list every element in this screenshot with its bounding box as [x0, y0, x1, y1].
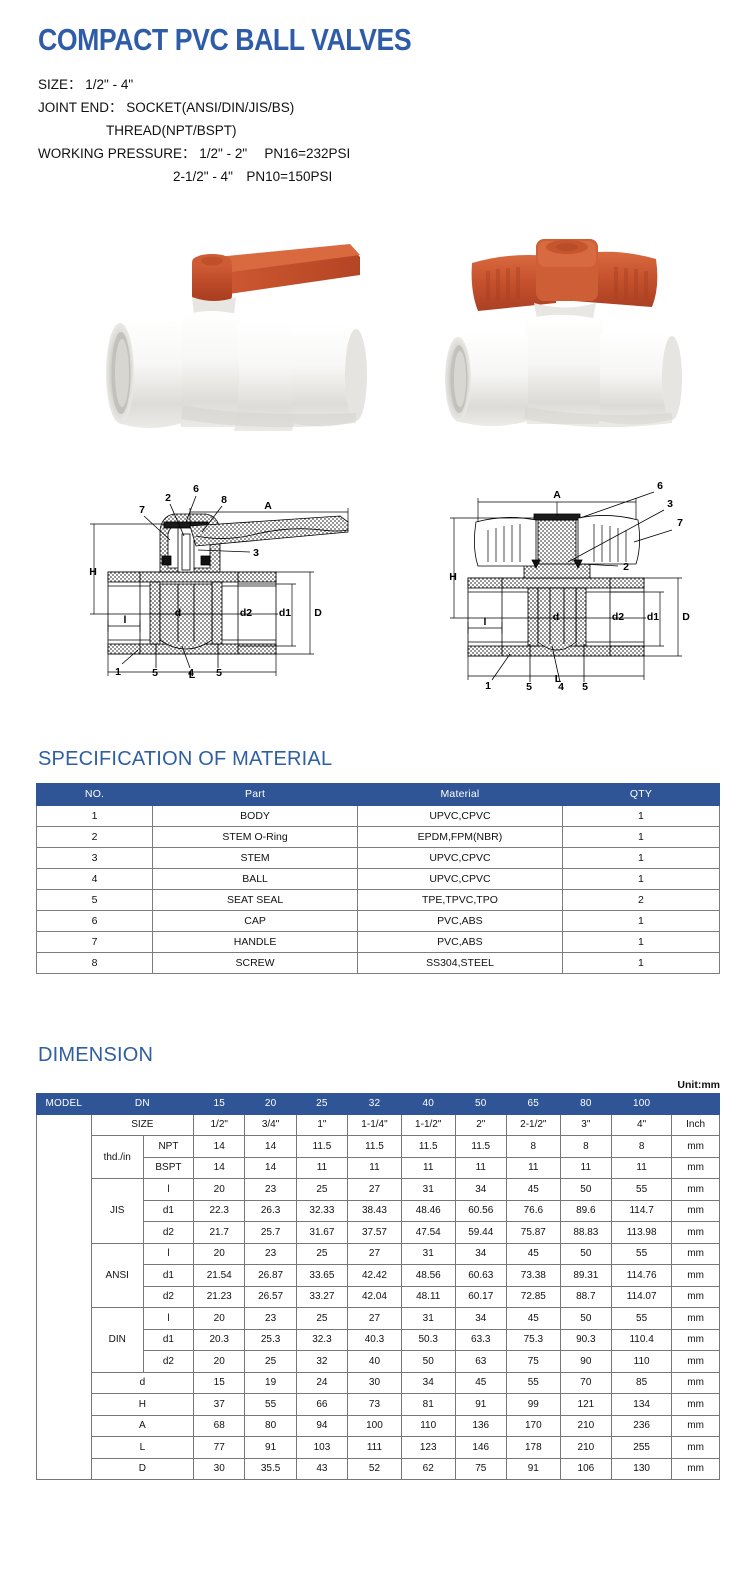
dimension-cell: 40.3 [348, 1329, 402, 1351]
dimension-cell: 11 [612, 1157, 672, 1179]
dimension-cell: 106 [560, 1458, 611, 1480]
dimension-cell: 121 [560, 1394, 611, 1416]
drawing-lever-handle-cross-section: 7 2 6 8 3 1 5 4 5 A H D d1 d2 d l L [78, 464, 368, 699]
dimension-section: DIMENSION Unit:mm MODELDN152025324050658… [0, 1044, 750, 1481]
spec-line-working-pressure: WORKING PRESSURE： 1/2" - 2" PN16=232PSI [38, 142, 750, 165]
callout-2: 2 [165, 492, 171, 504]
dimension-cell-unit: mm [672, 1329, 720, 1351]
material-col-no: NO. [37, 783, 153, 805]
dimension-cell-unit: mm [672, 1308, 720, 1330]
material-cell-no: 2 [37, 826, 153, 847]
dimension-cell: 24 [296, 1372, 347, 1394]
dimension-cell-unit: mm [672, 1458, 720, 1480]
material-cell-no: 7 [37, 931, 153, 952]
dimension-cell: 75 [455, 1458, 506, 1480]
callout-5a: 5 [152, 667, 158, 679]
dimension-cell: 26.57 [245, 1286, 296, 1308]
dimension-cell: 210 [560, 1437, 611, 1459]
dim-d: d [553, 611, 559, 623]
dim-A: A [553, 489, 561, 501]
table-row: thd./inNPT141411.511.511.511.5888mm [37, 1136, 720, 1158]
dimension-cell-unit: mm [672, 1157, 720, 1179]
dimension-cell: 136 [455, 1415, 506, 1437]
dimension-cell: 11.5 [348, 1136, 402, 1158]
dimension-cell: 21.54 [194, 1265, 245, 1287]
dimension-cell: 15 [194, 1372, 245, 1394]
dimension-cell: 20.3 [194, 1329, 245, 1351]
dimension-cell: 27 [348, 1243, 402, 1265]
dimension-cell: 100 [348, 1415, 402, 1437]
dimension-cell: 26.87 [245, 1265, 296, 1287]
dimension-cell: 73 [348, 1394, 402, 1416]
dimension-cell: 42.04 [348, 1286, 402, 1308]
dimension-cell: 63 [455, 1351, 506, 1373]
photo-lever-handle-valve [88, 219, 388, 434]
dimension-cell: 25 [296, 1308, 347, 1330]
material-cell-part: SEAT SEAL [153, 889, 358, 910]
dimension-row-group: JIS [91, 1179, 143, 1244]
dimension-cell: 110 [612, 1351, 672, 1373]
dimension-cell: 3/4" [245, 1114, 296, 1136]
material-cell-material: UPVC,CPVC [358, 805, 563, 826]
dimension-cell: 85 [612, 1372, 672, 1394]
dimension-col-unit [672, 1093, 720, 1114]
table-row: 5SEAT SEALTPE,TPVC,TPO2 [37, 889, 720, 910]
dimension-cell: 31.67 [296, 1222, 347, 1244]
callout-5b: 5 [582, 681, 588, 693]
material-col-material: Material [358, 783, 563, 805]
page-title: COMPACT PVC BALL VALVES [38, 24, 650, 57]
dimension-row-label: SIZE [91, 1114, 193, 1136]
dimension-cell: 48.56 [401, 1265, 455, 1287]
dimension-row-group: DIN [91, 1308, 143, 1373]
dimension-col-dn-20: 20 [245, 1093, 296, 1114]
dimension-cell: 111 [348, 1437, 402, 1459]
dimension-cell-unit: mm [672, 1286, 720, 1308]
dimension-row-sublabel: l [143, 1243, 193, 1265]
dimension-cell: 55 [245, 1394, 296, 1416]
dimension-cell: 99 [506, 1394, 560, 1416]
material-cell-material: SS304,STEEL [358, 952, 563, 973]
dimension-cell: 32.3 [296, 1329, 347, 1351]
material-cell-part: HANDLE [153, 931, 358, 952]
dimension-cell-model [37, 1114, 92, 1480]
dim-H: H [449, 571, 457, 583]
dimension-cell-unit: mm [672, 1200, 720, 1222]
dimension-cell: 20 [194, 1351, 245, 1373]
dimension-cell: 40 [348, 1351, 402, 1373]
dimension-cell: 8 [506, 1136, 560, 1158]
table-row: ANSIl202325273134455055mm [37, 1243, 720, 1265]
dimension-row-sublabel: d1 [143, 1329, 193, 1351]
dimension-cell: 34 [455, 1179, 506, 1201]
dimension-cell: 91 [455, 1394, 506, 1416]
dimension-cell: 170 [506, 1415, 560, 1437]
dimension-cell: 55 [612, 1308, 672, 1330]
dimension-cell: 27 [348, 1179, 402, 1201]
dimension-cell: 33.65 [296, 1265, 347, 1287]
dimension-cell: 91 [245, 1437, 296, 1459]
spec-line-joint-end: JOINT END： SOCKET(ANSI/DIN/JIS/BS) [38, 96, 750, 119]
dimension-table-header-row: MODELDN1520253240506580100 [37, 1093, 720, 1114]
table-row: 8SCREWSS304,STEEL1 [37, 952, 720, 973]
material-cell-material: EPDM,FPM(NBR) [358, 826, 563, 847]
dimension-cell: 110.4 [612, 1329, 672, 1351]
dimension-cell: 8 [612, 1136, 672, 1158]
dimension-cell: 60.17 [455, 1286, 506, 1308]
dimension-cell: 25 [245, 1351, 296, 1373]
dimension-cell: 47.54 [401, 1222, 455, 1244]
dimension-cell: 52 [348, 1458, 402, 1480]
dimension-cell: 110 [401, 1415, 455, 1437]
dimension-cell: 21.7 [194, 1222, 245, 1244]
dimension-cell: 2-1/2" [506, 1114, 560, 1136]
dimension-col-dn-80: 80 [560, 1093, 611, 1114]
dimension-cell: 37.57 [348, 1222, 402, 1244]
dimension-cell: 60.63 [455, 1265, 506, 1287]
spec-line-working-pressure-2: 2-1/2" - 4" PN10=150PSI [38, 165, 750, 188]
dimension-cell: 23 [245, 1308, 296, 1330]
dimension-cell: 81 [401, 1394, 455, 1416]
table-row: SIZE1/2"3/4"1"1-1/4"1-1/2"2"2-1/2"3"4"In… [37, 1114, 720, 1136]
dimension-cell: 31 [401, 1179, 455, 1201]
dimension-cell: 11.5 [401, 1136, 455, 1158]
material-cell-part: BODY [153, 805, 358, 826]
material-cell-part: STEM O-Ring [153, 826, 358, 847]
material-col-qty: QTY [562, 783, 719, 805]
dimension-cell: 11 [348, 1157, 402, 1179]
dimension-cell: 25 [296, 1243, 347, 1265]
dimension-cell: 146 [455, 1437, 506, 1459]
dimension-cell: 20 [194, 1308, 245, 1330]
dimension-cell: 30 [194, 1458, 245, 1480]
material-cell-no: 8 [37, 952, 153, 973]
spec-line-thread: THREAD(NPT/BSPT) [38, 119, 750, 142]
callout-1: 1 [485, 680, 491, 692]
dimension-cell: 60.56 [455, 1200, 506, 1222]
dimension-cell: 14 [245, 1157, 296, 1179]
dimension-row-sublabel: d2 [143, 1351, 193, 1373]
dimension-cell: 26.3 [245, 1200, 296, 1222]
dimension-cell: 80 [245, 1415, 296, 1437]
unit-note: Unit:mm [0, 1079, 720, 1091]
technical-drawings: 7 2 6 8 3 1 5 4 5 A H D d1 d2 d l L [0, 464, 750, 704]
dimension-cell: 103 [296, 1437, 347, 1459]
dimension-col-dn-40: 40 [401, 1093, 455, 1114]
callout-3: 3 [253, 547, 259, 559]
dim-L: L [555, 673, 562, 685]
callout-6: 6 [193, 483, 199, 495]
dimension-cell: 27 [348, 1308, 402, 1330]
material-cell-material: UPVC,CPVC [358, 868, 563, 889]
dim-L: L [189, 669, 196, 681]
material-cell-qty: 1 [562, 805, 719, 826]
dimension-cell: 45 [506, 1179, 560, 1201]
dimension-cell: 90 [560, 1351, 611, 1373]
dimension-cell: 14 [194, 1136, 245, 1158]
dimension-cell: 55 [612, 1243, 672, 1265]
dim-d2: d2 [240, 607, 252, 619]
dimension-col-dn-32: 32 [348, 1093, 402, 1114]
material-cell-material: UPVC,CPVC [358, 847, 563, 868]
material-cell-no: 3 [37, 847, 153, 868]
dimension-cell: 63.3 [455, 1329, 506, 1351]
material-cell-qty: 1 [562, 952, 719, 973]
dimension-cell: 31 [401, 1308, 455, 1330]
drawing-butterfly-handle-cross-section: 6 3 7 2 1 5 4 5 A H D d1 d2 d l L [432, 464, 704, 699]
dimension-cell: 34 [455, 1308, 506, 1330]
dimension-cell: 50.3 [401, 1329, 455, 1351]
dimension-cell: 23 [245, 1179, 296, 1201]
dimension-row-sublabel: d1 [143, 1265, 193, 1287]
dimension-col-dn-65: 65 [506, 1093, 560, 1114]
dimension-col-model: MODEL [37, 1093, 92, 1114]
dimension-cell: 8 [560, 1136, 611, 1158]
dimension-cell: 55 [612, 1179, 672, 1201]
dimension-cell: 70 [560, 1372, 611, 1394]
dimension-row-label: L [91, 1437, 193, 1459]
dimension-cell-unit: mm [672, 1222, 720, 1244]
dimension-cell: 34 [455, 1243, 506, 1265]
dimension-cell: 50 [560, 1179, 611, 1201]
dimension-cell: 236 [612, 1415, 672, 1437]
dimension-cell: 37 [194, 1394, 245, 1416]
table-row: 7HANDLEPVC,ABS1 [37, 931, 720, 952]
dimension-cell: 45 [506, 1243, 560, 1265]
dimension-cell: 123 [401, 1437, 455, 1459]
dimension-cell: 21.23 [194, 1286, 245, 1308]
dimension-cell: 38.43 [348, 1200, 402, 1222]
dimension-cell: 32 [296, 1351, 347, 1373]
dimension-col-dn-50: 50 [455, 1093, 506, 1114]
dimension-cell: 77 [194, 1437, 245, 1459]
dimension-cell: 89.6 [560, 1200, 611, 1222]
dimension-cell: 45 [455, 1372, 506, 1394]
dimension-cell: 48.11 [401, 1286, 455, 1308]
material-section-title: SPECIFICATION OF MATERIAL [38, 748, 750, 771]
table-row: 2STEM O-RingEPDM,FPM(NBR)1 [37, 826, 720, 847]
dimension-row-label: D [91, 1458, 193, 1480]
dimension-row-sublabel: NPT [143, 1136, 193, 1158]
dimension-cell: 3" [560, 1114, 611, 1136]
material-cell-part: BALL [153, 868, 358, 889]
dimension-cell: 94 [296, 1415, 347, 1437]
callout-2: 2 [623, 561, 629, 573]
dimension-cell: 66 [296, 1394, 347, 1416]
dimension-cell: 11 [296, 1157, 347, 1179]
dimension-cell: 113.98 [612, 1222, 672, 1244]
dimension-cell-unit: mm [672, 1351, 720, 1373]
material-cell-qty: 1 [562, 910, 719, 931]
dimension-row-sublabel: d2 [143, 1222, 193, 1244]
table-row: d151924303445557085mm [37, 1372, 720, 1394]
dimension-row-sublabel: d2 [143, 1286, 193, 1308]
dimension-section-title: DIMENSION [38, 1044, 750, 1067]
dimension-cell: 72.85 [506, 1286, 560, 1308]
material-cell-part: STEM [153, 847, 358, 868]
dimension-cell: 75.3 [506, 1329, 560, 1351]
dim-l: l [484, 616, 487, 628]
material-cell-qty: 1 [562, 868, 719, 889]
dimension-cell: 25 [296, 1179, 347, 1201]
dimension-cell: 62 [401, 1458, 455, 1480]
material-table: NO. Part Material QTY 1BODYUPVC,CPVC12ST… [36, 783, 720, 974]
dimension-cell: 32.33 [296, 1200, 347, 1222]
material-cell-no: 1 [37, 805, 153, 826]
dim-d1: d1 [647, 611, 659, 623]
table-row: L7791103111123146178210255mm [37, 1437, 720, 1459]
dimension-cell: 22.3 [194, 1200, 245, 1222]
dimension-cell: 11.5 [296, 1136, 347, 1158]
dimension-cell: 134 [612, 1394, 672, 1416]
dimension-cell: 11 [506, 1157, 560, 1179]
dimension-cell: 11 [560, 1157, 611, 1179]
material-cell-no: 6 [37, 910, 153, 931]
dimension-cell: 114.07 [612, 1286, 672, 1308]
dimension-cell-unit: mm [672, 1437, 720, 1459]
dim-D: D [314, 607, 322, 619]
dimension-cell: 25.3 [245, 1329, 296, 1351]
dimension-cell: 178 [506, 1437, 560, 1459]
dimension-cell: 25.7 [245, 1222, 296, 1244]
callout-7: 7 [677, 517, 683, 529]
dimension-row-label: H [91, 1394, 193, 1416]
material-cell-material: PVC,ABS [358, 931, 563, 952]
table-row: 4BALLUPVC,CPVC1 [37, 868, 720, 889]
product-photos [0, 213, 750, 458]
header-block: COMPACT PVC BALL VALVES SIZE： 1/2" - 4" … [0, 0, 750, 189]
dimension-cell-unit: mm [672, 1136, 720, 1158]
material-cell-material: TPE,TPVC,TPO [358, 889, 563, 910]
dimension-cell-unit: mm [672, 1372, 720, 1394]
dimension-cell: 11 [455, 1157, 506, 1179]
dimension-cell: 43 [296, 1458, 347, 1480]
table-row: A688094100110136170210236mm [37, 1415, 720, 1437]
material-cell-qty: 1 [562, 931, 719, 952]
dimension-cell: 19 [245, 1372, 296, 1394]
dimension-cell: 34 [401, 1372, 455, 1394]
dimension-cell: 255 [612, 1437, 672, 1459]
dimension-cell: 1-1/2" [401, 1114, 455, 1136]
dimension-cell: 88.83 [560, 1222, 611, 1244]
callout-6: 6 [657, 480, 663, 492]
material-table-header-row: NO. Part Material QTY [37, 783, 720, 805]
dimension-cell-unit: mm [672, 1415, 720, 1437]
dimension-cell: 31 [401, 1243, 455, 1265]
table-row: D3035.54352627591106130mm [37, 1458, 720, 1480]
spec-summary-list: SIZE： 1/2" - 4" JOINT END： SOCKET(ANSI/D… [38, 73, 750, 189]
dimension-cell: 114.7 [612, 1200, 672, 1222]
dimension-cell: 14 [245, 1136, 296, 1158]
material-cell-part: SCREW [153, 952, 358, 973]
dim-d1: d1 [279, 607, 291, 619]
dimension-row-sublabel: l [143, 1179, 193, 1201]
dimension-row-sublabel: d1 [143, 1200, 193, 1222]
dimension-row-label: A [91, 1415, 193, 1437]
callout-8: 8 [221, 494, 227, 506]
dimension-cell: 89.31 [560, 1265, 611, 1287]
dimension-cell: 1-1/4" [348, 1114, 402, 1136]
callout-1: 1 [115, 666, 121, 678]
dimension-col-dn-25: 25 [296, 1093, 347, 1114]
table-row: 3STEMUPVC,CPVC1 [37, 847, 720, 868]
dimension-cell: 50 [560, 1308, 611, 1330]
dimension-cell: 91 [506, 1458, 560, 1480]
dimension-cell: 75.87 [506, 1222, 560, 1244]
dimension-row-group: ANSI [91, 1243, 143, 1308]
dimension-cell: 210 [560, 1415, 611, 1437]
dimension-cell: 90.3 [560, 1329, 611, 1351]
dimension-cell: 50 [560, 1243, 611, 1265]
dimension-col-dn-100: 100 [612, 1093, 672, 1114]
dimension-cell: 2" [455, 1114, 506, 1136]
table-row: 6CAPPVC,ABS1 [37, 910, 720, 931]
dim-d: d [175, 607, 181, 619]
dimension-cell: 50 [401, 1351, 455, 1373]
dimension-cell: 68 [194, 1415, 245, 1437]
dimension-cell: 42.42 [348, 1265, 402, 1287]
dimension-cell: 33.27 [296, 1286, 347, 1308]
dimension-cell: 20 [194, 1179, 245, 1201]
material-cell-qty: 1 [562, 847, 719, 868]
dimension-cell: 48.46 [401, 1200, 455, 1222]
dimension-cell: 88.7 [560, 1286, 611, 1308]
material-cell-no: 4 [37, 868, 153, 889]
dimension-table: MODELDN1520253240506580100 SIZE1/2"3/4"1… [36, 1093, 720, 1481]
dimension-cell: 35.5 [245, 1458, 296, 1480]
callout-5a: 5 [526, 681, 532, 693]
dimension-cell-unit: Inch [672, 1114, 720, 1136]
dimension-cell: 130 [612, 1458, 672, 1480]
material-cell-qty: 1 [562, 826, 719, 847]
dimension-cell: 45 [506, 1308, 560, 1330]
photo-butterfly-handle-valve [430, 225, 700, 430]
dimension-cell: 20 [194, 1243, 245, 1265]
dim-A: A [264, 500, 272, 512]
dim-d2: d2 [612, 611, 624, 623]
dimension-col-dn-15: 15 [194, 1093, 245, 1114]
dimension-cell-unit: mm [672, 1394, 720, 1416]
dimension-cell: 11.5 [455, 1136, 506, 1158]
dimension-row-sublabel: BSPT [143, 1157, 193, 1179]
table-row: H37556673819199121134mm [37, 1394, 720, 1416]
dimension-cell-unit: mm [672, 1179, 720, 1201]
dimension-cell: 73.38 [506, 1265, 560, 1287]
table-row: 1BODYUPVC,CPVC1 [37, 805, 720, 826]
dim-D: D [682, 611, 690, 623]
material-section: SPECIFICATION OF MATERIAL NO. Part Mater… [0, 748, 750, 974]
dim-l: l [124, 614, 127, 626]
dimension-cell: 11 [401, 1157, 455, 1179]
material-col-part: Part [153, 783, 358, 805]
material-cell-part: CAP [153, 910, 358, 931]
dim-H: H [89, 566, 97, 578]
dimension-cell: 14 [194, 1157, 245, 1179]
spec-line-size: SIZE： 1/2" - 4" [38, 73, 750, 96]
dimension-cell: 1" [296, 1114, 347, 1136]
callout-3: 3 [667, 498, 673, 510]
dimension-row-label: d [91, 1372, 193, 1394]
material-cell-material: PVC,ABS [358, 910, 563, 931]
dimension-col-dn: DN [91, 1093, 193, 1114]
dimension-cell: 114.76 [612, 1265, 672, 1287]
product-spec-sheet: COMPACT PVC BALL VALVES SIZE： 1/2" - 4" … [0, 0, 750, 1520]
dimension-row-sublabel: l [143, 1308, 193, 1330]
dimension-cell: 23 [245, 1243, 296, 1265]
callout-7: 7 [139, 504, 145, 516]
callout-5b: 5 [216, 667, 222, 679]
dimension-cell: 76.6 [506, 1200, 560, 1222]
